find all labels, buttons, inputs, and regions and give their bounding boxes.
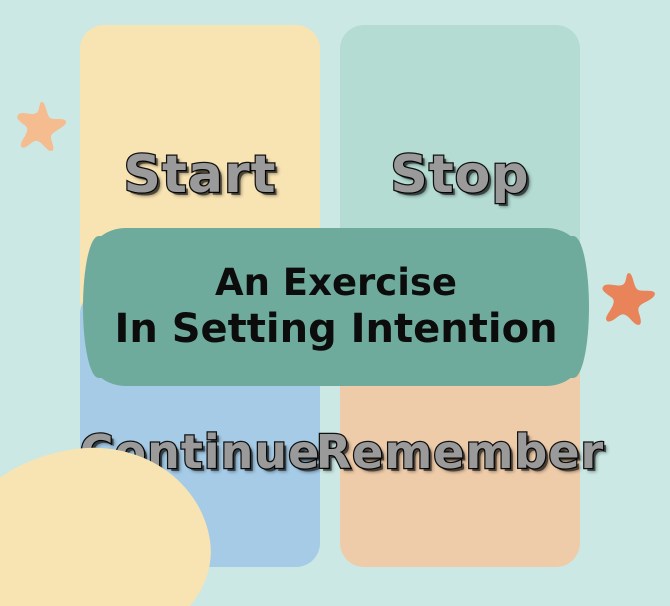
card-start-label: Start: [124, 145, 277, 205]
card-remember-label: Remember: [316, 425, 605, 479]
poster-canvas: Start Stop Continue Remember An Exercise…: [0, 0, 670, 606]
starfish-icon-left: [14, 98, 70, 158]
card-stop-label: Stop: [390, 145, 529, 205]
center-banner: An Exercise In Setting Intention: [92, 228, 580, 386]
banner-title-line-2: In Setting Intention: [114, 305, 557, 354]
banner-title-line-1: An Exercise: [215, 260, 457, 305]
starfish-icon-right: [600, 270, 658, 332]
